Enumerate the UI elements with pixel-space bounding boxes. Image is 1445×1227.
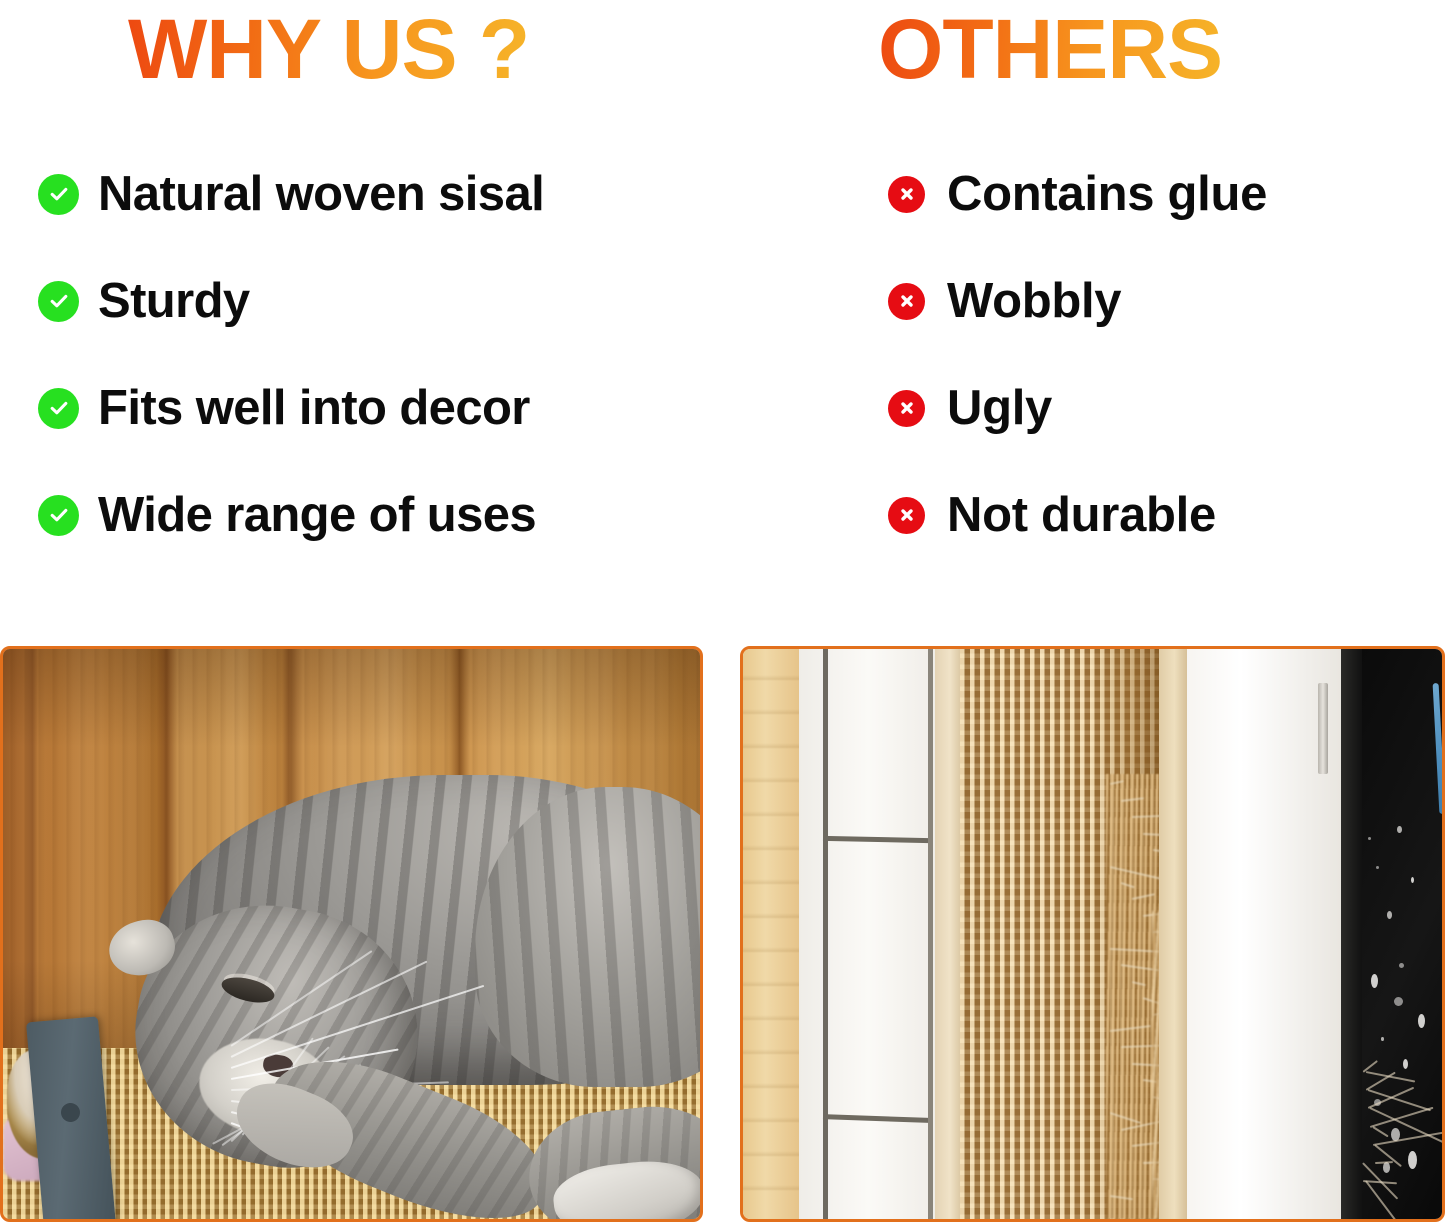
wood-door-jamb [743, 649, 799, 1219]
photo-competitor-product [740, 646, 1445, 1222]
paint-speck [1397, 826, 1402, 834]
cat-right-paw [523, 1099, 703, 1222]
door-moulding-line [823, 649, 828, 1219]
cross-circle-icon [888, 176, 925, 213]
photo-our-product [0, 646, 703, 1222]
list-item: Ugly [886, 377, 1406, 439]
cons-item-label: Wobbly [947, 277, 1121, 326]
loose-sisal-fibre [1131, 894, 1154, 901]
sisal-panel-on-door-scene [743, 649, 1442, 1219]
blue-tape [1432, 683, 1445, 814]
check-circle-icon [38, 388, 79, 429]
list-item: Wide range of uses [38, 484, 718, 546]
pros-list: Natural woven sisal Sturdy Fits well int… [38, 163, 718, 591]
pros-item-label: Natural woven sisal [98, 170, 544, 219]
loose-sisal-fibre [1365, 1071, 1414, 1082]
cons-list: Contains glue Wobbly Ugly [886, 163, 1406, 591]
grey-cat [113, 729, 703, 1199]
cons-item-label: Ugly [947, 384, 1052, 433]
list-item: Fits well into decor [38, 377, 718, 439]
paint-speck [1368, 837, 1371, 840]
paint-speck [1376, 866, 1379, 869]
check-circle-icon [38, 281, 79, 322]
loose-sisal-fibre [1110, 1112, 1141, 1124]
door-dark-edge [1341, 649, 1362, 1219]
loose-sisal-fibre [1110, 1195, 1133, 1200]
cross-circle-icon [888, 390, 925, 427]
paint-speck [1399, 963, 1404, 968]
door-moulding-line-right [928, 649, 933, 1219]
loose-sisal-fibre [1110, 1025, 1151, 1032]
loose-sisal-fibre [1372, 1126, 1388, 1137]
check-circle-icon [38, 174, 79, 215]
cat-on-sisal-mat-scene [3, 649, 700, 1219]
paint-speck [1394, 997, 1403, 1006]
pros-item-label: Wide range of uses [98, 491, 536, 540]
cross-circle-icon [888, 283, 925, 320]
check-circle-icon [38, 495, 79, 536]
paint-speck [1381, 1037, 1384, 1042]
pros-item-label: Fits well into decor [98, 384, 530, 433]
paint-speck [1371, 974, 1378, 988]
loose-sisal-fibre [1120, 882, 1134, 888]
black-wall-area [1362, 649, 1442, 1219]
panel-trim-right [1159, 649, 1187, 1219]
list-item: Natural woven sisal [38, 163, 718, 225]
paint-speck [1387, 911, 1392, 919]
paint-speck [1403, 1059, 1408, 1069]
loose-sisal-fibre [1363, 1060, 1378, 1072]
comparison-columns: Natural woven sisal Sturdy Fits well int… [0, 0, 1445, 620]
paint-speck [1383, 1162, 1390, 1173]
door-hinge [1318, 683, 1328, 774]
panel-trim-left [935, 649, 959, 1219]
cons-item-label: Not durable [947, 491, 1216, 540]
paint-speck [1418, 1014, 1425, 1028]
cross-circle-icon [888, 497, 925, 534]
pros-item-label: Sturdy [98, 277, 250, 326]
list-item: Wobbly [886, 270, 1406, 332]
loose-sisal-fibre [1121, 797, 1144, 802]
list-item: Contains glue [886, 163, 1406, 225]
loose-sisal-fibre [1110, 780, 1124, 785]
photo-row [0, 646, 1445, 1227]
list-item: Sturdy [38, 270, 718, 332]
paint-speck [1408, 1151, 1417, 1169]
paint-speck [1411, 877, 1414, 883]
list-item: Not durable [886, 484, 1406, 546]
loose-sisal-fibre [1131, 981, 1145, 986]
cons-item-label: Contains glue [947, 170, 1267, 219]
